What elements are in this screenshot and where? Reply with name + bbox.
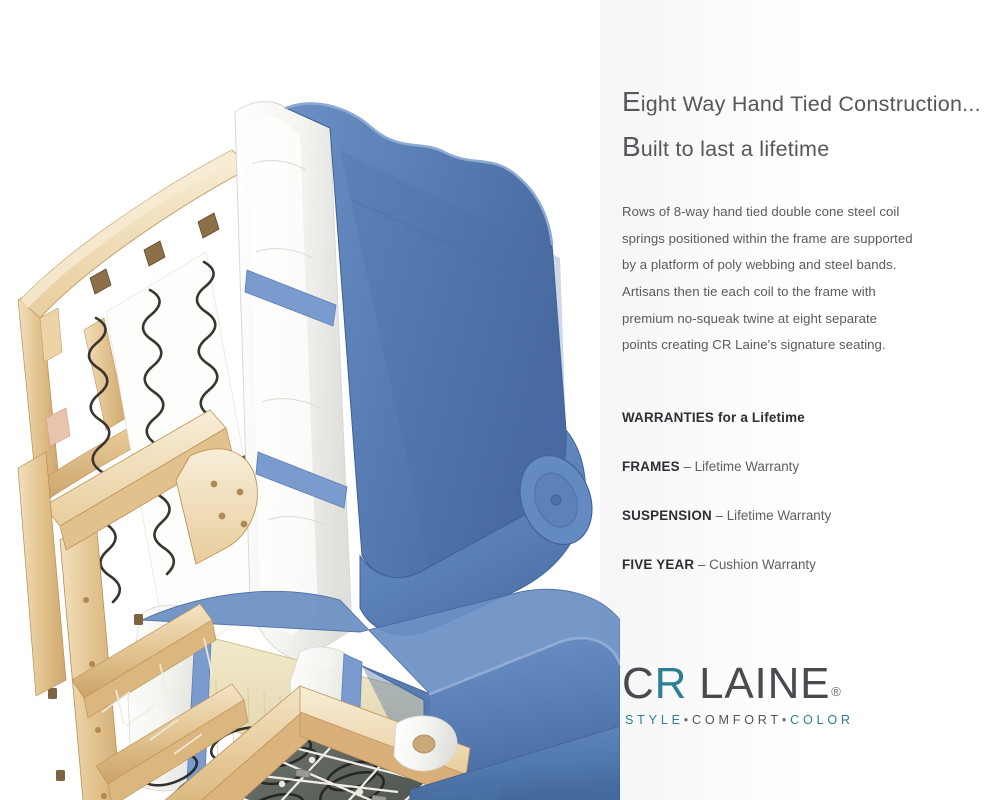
warranty-desc: – Lifetime Warranty <box>712 508 831 523</box>
cr-laine-logo: CRLAINE® STYLE•COMFORT•COLOR <box>622 662 852 727</box>
headline-line-1-cap: E <box>622 86 641 117</box>
registered-trademark-icon: ® <box>831 684 841 699</box>
tagline-color: COLOR <box>790 713 854 727</box>
tagline-separator: • <box>782 713 790 727</box>
warranty-desc: – Cushion Warranty <box>694 557 816 572</box>
warranties-heading: WARRANTIES for a Lifetime <box>622 410 982 425</box>
warranty-term: SUSPENSION <box>622 508 712 523</box>
body-copy: Rows of 8-way hand tied double cone stee… <box>622 199 972 359</box>
front-corner-batting <box>394 716 457 771</box>
tagline-separator: • <box>684 713 692 727</box>
tagline-style: STYLE <box>625 713 684 727</box>
warranty-item-frames: FRAMES – Lifetime Warranty <box>622 459 982 474</box>
body-copy-line: springs positioned within the frame are … <box>622 226 972 253</box>
headline-line-1: Eight Way Hand Tied Construction... <box>622 88 972 116</box>
logo-tagline: STYLE•COMFORT•COLOR <box>622 713 852 727</box>
copy-column: Eight Way Hand Tied Construction... Buil… <box>622 88 972 359</box>
body-copy-line: Rows of 8-way hand tied double cone stee… <box>622 199 972 226</box>
stile-block <box>40 308 62 362</box>
brochure-page: Eight Way Hand Tied Construction... Buil… <box>0 0 1000 800</box>
body-copy-line: Artisans then tie each coil to the frame… <box>622 279 972 306</box>
warranty-item-suspension: SUSPENSION – Lifetime Warranty <box>622 508 982 523</box>
headline-line-1-rest: ight Way Hand Tied Construction... <box>641 92 981 116</box>
warranty-term: FIVE YEAR <box>622 557 694 572</box>
logo-letter-r: R <box>655 659 688 708</box>
headline-line-2-rest: uilt to last a lifetime <box>641 137 830 161</box>
body-copy-line: by a platform of poly webbing and steel … <box>622 252 972 279</box>
chair-svg <box>0 0 620 800</box>
warranties-section: WARRANTIES for a Lifetime FRAMES – Lifet… <box>622 410 982 572</box>
headline-line-2: Built to last a lifetime <box>622 133 972 161</box>
warranty-term: FRAMES <box>622 459 680 474</box>
warranty-item-five-year: FIVE YEAR – Cushion Warranty <box>622 557 982 572</box>
body-copy-line: points creating CR Laine's signature sea… <box>622 332 972 359</box>
logo-letter-c: C <box>622 659 655 708</box>
logo-wordmark: CRLAINE® <box>622 662 852 706</box>
tagline-comfort: COMFORT <box>692 713 782 727</box>
chair-cutaway-illustration <box>0 0 620 800</box>
warranties-heading-text: WARRANTIES for a Lifetime <box>622 410 805 425</box>
body-copy-line: premium no-squeak twine at eight separat… <box>622 306 972 333</box>
arm-button-tuft <box>551 495 561 505</box>
logo-word-laine: LAINE <box>699 659 830 708</box>
corner-cord-end <box>413 735 435 753</box>
back-top-rail <box>20 150 250 318</box>
warranty-desc: – Lifetime Warranty <box>680 459 799 474</box>
headline-line-2-cap: B <box>622 131 641 162</box>
